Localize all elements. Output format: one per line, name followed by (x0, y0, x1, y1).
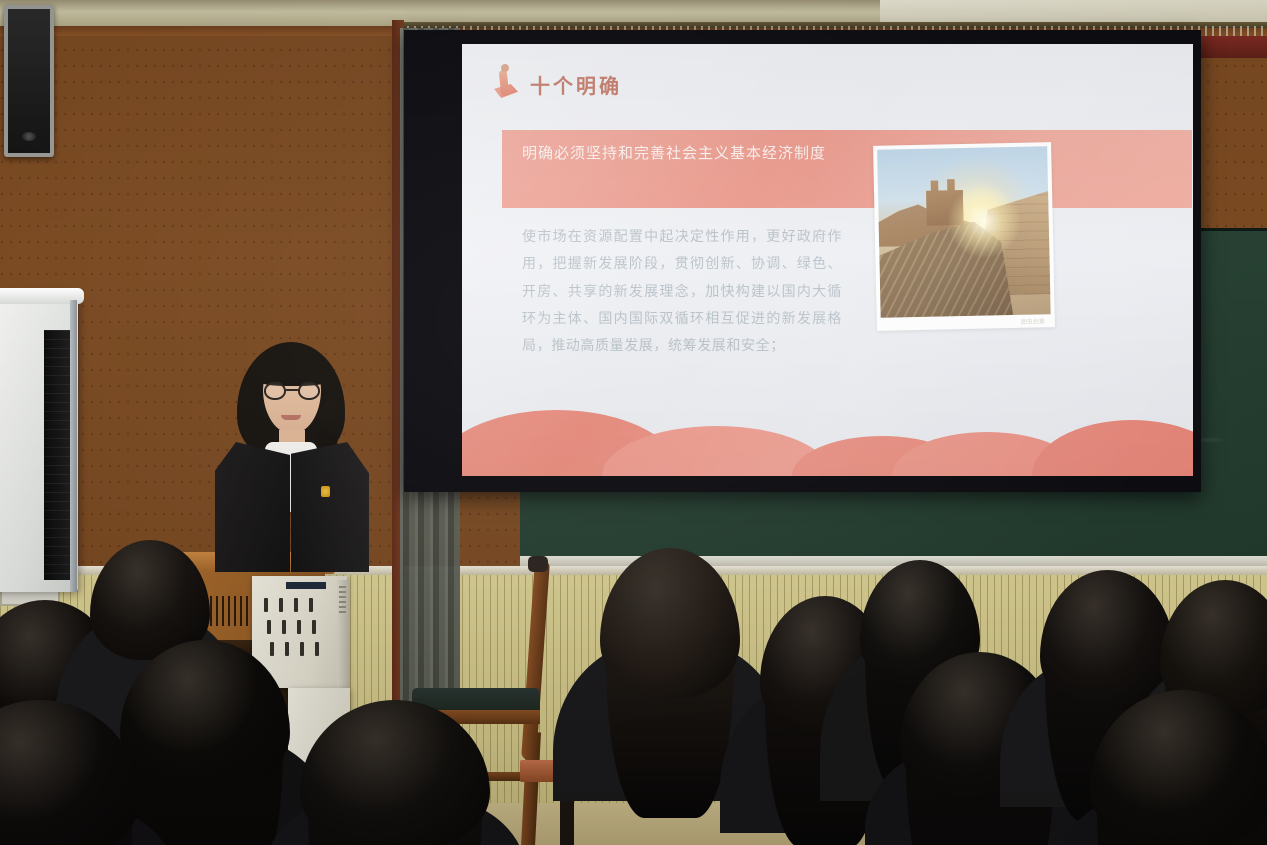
cabinet-label-plate (286, 582, 326, 589)
slide-photo: 图虫创意 (873, 142, 1055, 331)
presenter-jacket-right (291, 442, 369, 572)
projection-screen-frame: 十个明确 明确必须坚持和完善社会主义基本经济制度 使市场在资源配置中起决定性作用… (404, 30, 1201, 492)
projection-screen: 十个明确 明确必须坚持和完善社会主义基本经济制度 使市场在资源配置中起决定性作用… (462, 44, 1193, 476)
photo-watermark: 图虫创意 (1021, 316, 1045, 326)
cabinet-side-panel (337, 580, 349, 688)
slide-body-line-6: 发展和安全； (697, 338, 785, 354)
wall-speaker (4, 5, 54, 157)
presenter (205, 338, 380, 573)
slide-mountain-decoration (462, 390, 1193, 476)
speaker-cone-icon (22, 132, 36, 141)
great-wall-photo (877, 146, 1050, 318)
slide-body-text: 使市场在资源配置中起决定性作用，更好政府作用，把握新发展阶段，贯彻创新、协调、绿… (522, 224, 842, 360)
slide-title-row: 十个明确 (492, 64, 622, 104)
slide-body-line-1: 使市场在资源配置中起决定性作用，更好政 (522, 229, 812, 245)
presenter-jacket-left (215, 442, 290, 572)
cabinet-vent-slots (264, 598, 326, 660)
slide-banner-heading: 明确必须坚持和完善社会主义基本经济制度 (522, 140, 852, 166)
presenter-party-badge (321, 486, 330, 497)
presenter-mouth (281, 415, 301, 420)
air-conditioner-edge (70, 300, 77, 592)
party-figure-emblem-icon (492, 64, 520, 104)
lecture-hall-photo: 十个明确 明确必须坚持和完善社会主义基本经济制度 使市场在资源配置中起决定性作用… (0, 0, 1267, 845)
slide-title: 十个明确 (530, 70, 622, 99)
air-conditioner-vent (44, 330, 70, 580)
presenter-glasses-icon (264, 382, 320, 400)
